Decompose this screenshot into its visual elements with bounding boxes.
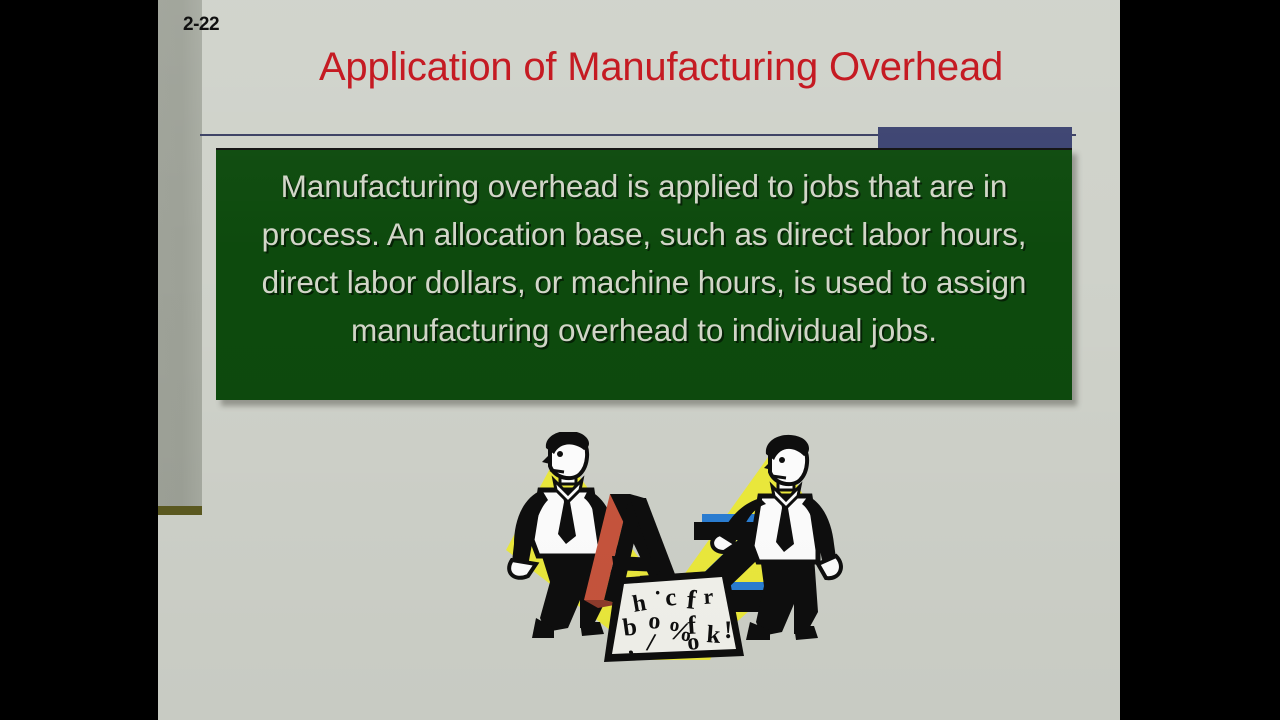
navy-accent-block (878, 127, 1072, 150)
clipart-illustration: h · c f r b o f % o k ! , / (488, 432, 848, 682)
page-title: Application of Manufacturing Overhead (202, 45, 1120, 90)
callout-box: Manufacturing overhead is applied to job… (216, 148, 1072, 400)
svg-text:!: ! (724, 617, 732, 644)
presentation-slide: 2-22 Application of Manufacturing Overhe… (158, 0, 1120, 720)
svg-text:k: k (706, 621, 722, 649)
callout-text: Manufacturing overhead is applied to job… (228, 162, 1060, 354)
screenshot-stage: 2-22 Application of Manufacturing Overhe… (0, 0, 1280, 720)
left-decorative-band (158, 0, 202, 513)
slide-number: 2-22 (183, 14, 219, 36)
svg-text:,: , (628, 634, 634, 660)
left-band-accent-bar (158, 506, 202, 515)
scattered-characters-sign: h · c f r b o f % o k ! , / (604, 570, 744, 662)
svg-text:r: r (703, 583, 715, 609)
svg-text:·: · (654, 580, 661, 605)
